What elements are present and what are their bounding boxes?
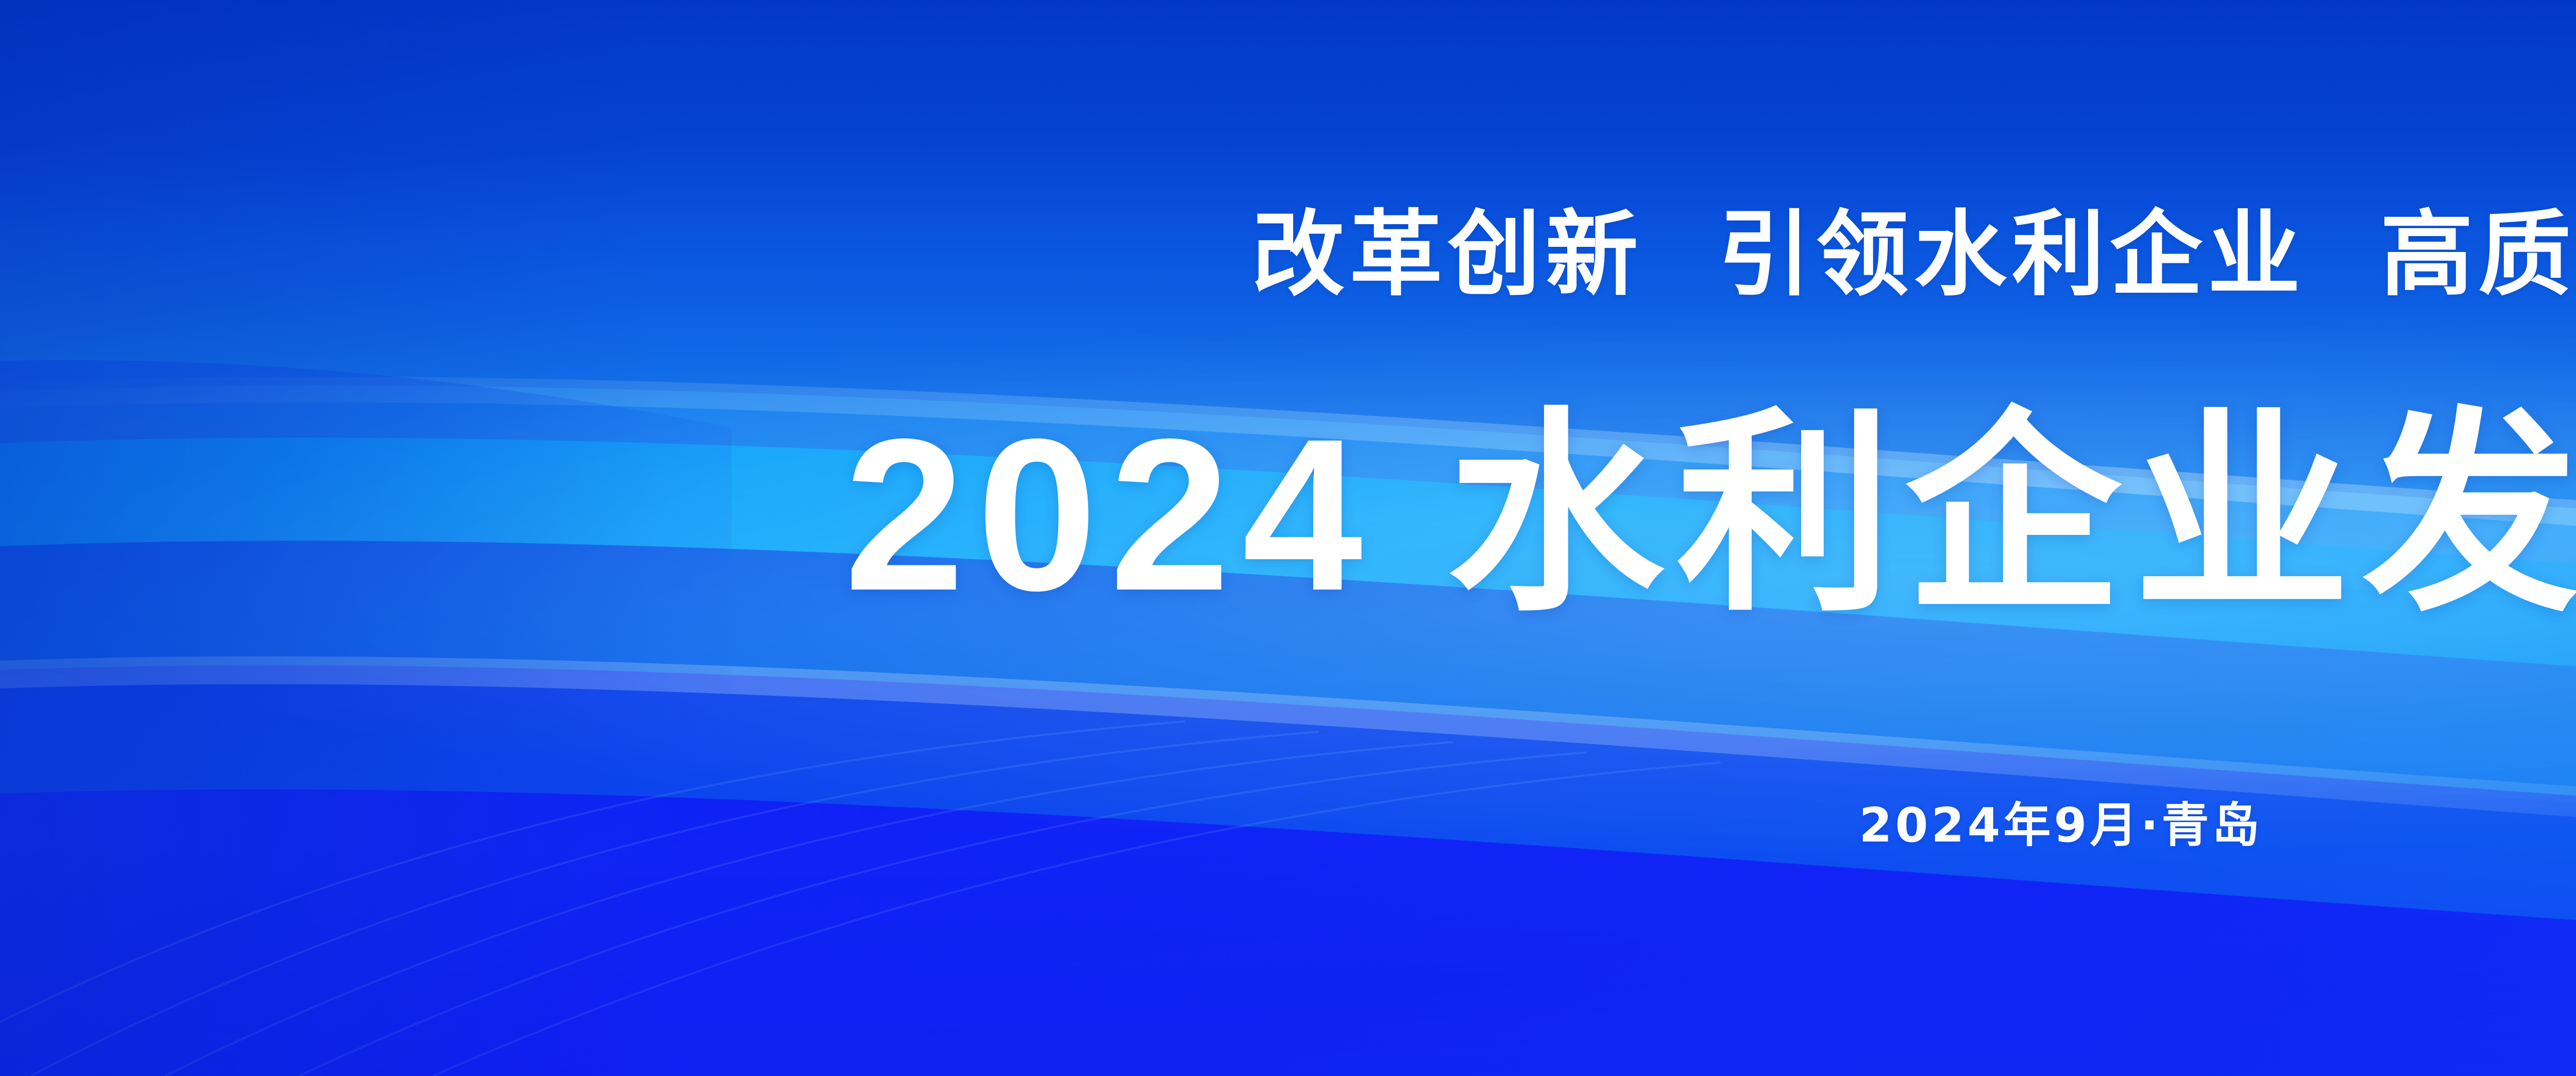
banner-subtitle: 改革创新 引领水利企业 高质量发展 xyxy=(0,208,2576,301)
banner-date-location: 2024年9月·青岛 xyxy=(0,802,2576,849)
banner-text-stack: 改革创新 引领水利企业 高质量发展 2024 水利企业发展论坛 2024年9月·… xyxy=(0,0,2576,1076)
event-banner: 改革创新 引领水利企业 高质量发展 2024 水利企业发展论坛 2024年9月·… xyxy=(0,0,2576,1076)
banner-main-title: 2024 水利企业发展论坛 xyxy=(0,407,2576,624)
